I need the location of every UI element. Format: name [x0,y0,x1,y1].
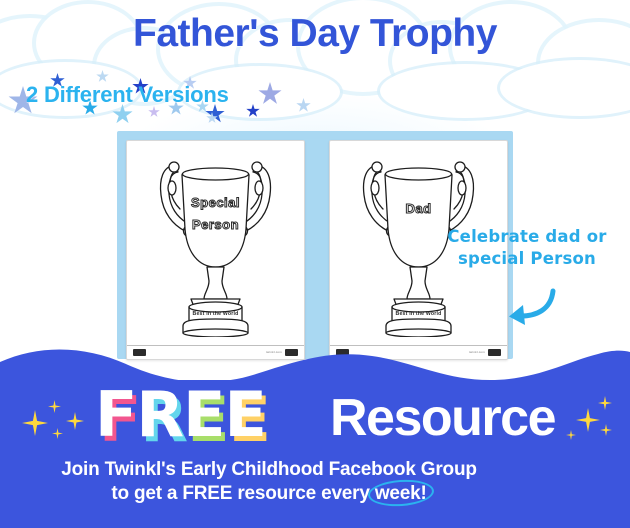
tagline-line-2: to get a FREE resource every week! [0,482,538,506]
free-letter-e1: E [183,384,224,446]
tagline-line-1: Join Twinkl's Early Childhood Facebook G… [0,458,538,482]
trophy-base-label: Best in the World [127,311,304,317]
worksheet-thumbnail-special-person[interactable]: Special Person Best in the World twinkl.… [126,140,305,360]
trophy-base-label: Best in the World [330,311,507,317]
sparkle-icon [598,396,612,410]
trophy-cup-label-line1: Special [127,195,304,210]
sparkle-icon [52,428,63,439]
trophy-illustration: Special Person Best in the World [127,143,304,337]
trophy-cup-label-line1: Dad [330,201,507,216]
sparkle-icon [576,408,600,432]
sparkle-icon [48,400,61,413]
free-resource-headline: FREE Resource [0,382,630,458]
banner-tagline: Join Twinkl's Early Childhood Facebook G… [0,458,538,506]
trophy-line-art [127,143,304,337]
annotation-line-1: Celebrate dad or [432,226,622,248]
sparkle-icon [600,424,612,436]
annotation-callout: Celebrate dad or special Person [432,226,622,270]
sparkle-icon [22,410,48,436]
free-letter-r: R [136,384,183,446]
poster-canvas: Father's Day Trophy 2 Different Versions [0,0,630,528]
free-letter-f: F [95,384,136,446]
curved-left-arrow-icon [489,285,559,325]
sparkle-icon [566,430,576,440]
trophy-cup-label-line2: Person [127,217,304,232]
free-word: FREE [95,384,266,446]
promo-banner: FREE Resource Join Twinkl's Early Childh… [0,348,630,528]
free-letter-e2: E [224,384,265,446]
page-title: Father's Day Trophy [0,14,630,55]
worksheet-page-content: Special Person Best in the World [127,141,304,337]
sparkle-icon [66,412,84,430]
page-subtitle: 2 Different Versions [26,82,229,108]
resource-word: Resource [330,392,555,444]
annotation-line-2: special Person [432,248,622,270]
